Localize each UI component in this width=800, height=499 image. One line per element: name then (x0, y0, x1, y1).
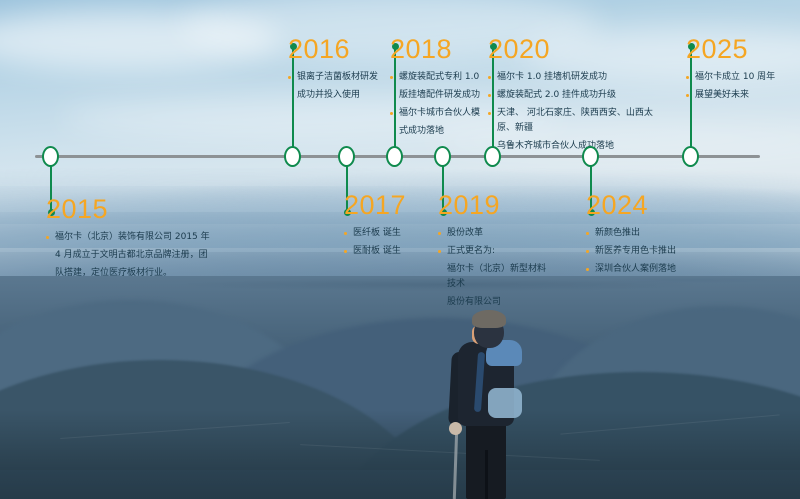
timeline-node-2018[interactable] (386, 146, 403, 167)
event-item: 医耐板 诞生 (344, 244, 434, 259)
event-item: 乌鲁木齐城市合伙人成功落地 (488, 139, 668, 154)
event-year-2020: 2020 (488, 36, 668, 63)
event-item-list-2015: 福尔卡（北京）装饰有限公司 2015 年4 月成立于文明古都北京品牌注册，团队搭… (46, 230, 231, 281)
event-item: 股份改革 (438, 226, 548, 241)
timeline-event-2015[interactable]: 2015福尔卡（北京）装饰有限公司 2015 年4 月成立于文明古都北京品牌注册… (46, 196, 231, 284)
event-item: 式成功落地 (390, 124, 490, 139)
event-item: 螺旋装配式专利 1.0 (390, 70, 490, 85)
event-item-list-2024: 新颜色推出新医养专用色卡推出深圳合伙人案例落地 (586, 226, 716, 277)
hiker-hand (449, 422, 462, 435)
event-item-list-2018: 螺旋装配式专利 1.0版挂墙配件研发成功福尔卡城市合伙人模式成功落地 (390, 70, 490, 139)
event-item: 医纤板 诞生 (344, 226, 434, 241)
event-item: 深圳合伙人案例落地 (586, 262, 716, 277)
timeline-event-2025[interactable]: 2025福尔卡成立 10 周年展望美好未来 (686, 36, 796, 106)
timeline-node-2016[interactable] (284, 146, 301, 167)
trekking-pole (453, 430, 458, 499)
event-year-2019: 2019 (438, 192, 548, 219)
event-item: 福尔卡成立 10 周年 (686, 70, 796, 85)
timeline-event-2017[interactable]: 2017医纤板 诞生医耐板 诞生 (344, 192, 434, 262)
timeline-event-2016[interactable]: 2016银离子洁菌板材研发成功并投入使用 (288, 36, 388, 106)
timeline-event-2024[interactable]: 2024新颜色推出新医养专用色卡推出深圳合伙人案例落地 (586, 192, 716, 280)
event-item: 螺旋装配式 2.0 挂件成功升级 (488, 88, 668, 103)
event-item-list-2016: 银离子洁菌板材研发成功并投入使用 (288, 70, 388, 103)
hiker-leg-split (485, 450, 488, 499)
event-item: 银离子洁菌板材研发 (288, 70, 388, 85)
hiker-figure (430, 300, 550, 499)
event-year-2025: 2025 (686, 36, 796, 63)
timeline-event-2018[interactable]: 2018螺旋装配式专利 1.0版挂墙配件研发成功福尔卡城市合伙人模式成功落地 (390, 36, 490, 142)
timeline-node-2015[interactable] (42, 146, 59, 167)
event-item: 成功并投入使用 (288, 88, 388, 103)
timeline-event-2019[interactable]: 2019股份改革正式更名为:福尔卡（北京）新型材料技术股份有限公司 (438, 192, 548, 313)
event-item: 股份有限公司 (438, 295, 548, 310)
event-item: 福尔卡（北京）新型材料技术 (438, 262, 548, 292)
event-item-list-2025: 福尔卡成立 10 周年展望美好未来 (686, 70, 796, 103)
event-item: 4 月成立于文明古都北京品牌注册，团 (46, 248, 231, 263)
event-year-2018: 2018 (390, 36, 490, 63)
event-year-2024: 2024 (586, 192, 716, 219)
timeline-infographic: 2015福尔卡（北京）装饰有限公司 2015 年4 月成立于文明古都北京品牌注册… (0, 0, 800, 499)
event-item-list-2019: 股份改革正式更名为:福尔卡（北京）新型材料技术股份有限公司 (438, 226, 548, 310)
event-item: 展望美好未来 (686, 88, 796, 103)
event-item: 新医养专用色卡推出 (586, 244, 716, 259)
event-item: 队搭建，定位医疗板材行业。 (46, 266, 231, 281)
event-item: 版挂墙配件研发成功 (390, 88, 490, 103)
event-item: 新颜色推出 (586, 226, 716, 241)
event-item: 福尔卡城市合伙人模 (390, 106, 490, 121)
event-item: 正式更名为: (438, 244, 548, 259)
timeline-event-2020[interactable]: 2020福尔卡 1.0 挂墙机研发成功螺旋装配式 2.0 挂件成功升级天津、 河… (488, 36, 668, 157)
event-item: 天津、 河北石家庄、陕西西安、山西太原、新疆 (488, 106, 668, 136)
event-item: 福尔卡（北京）装饰有限公司 2015 年 (46, 230, 231, 245)
foreground-ground (0, 470, 800, 499)
event-item-list-2017: 医纤板 诞生医耐板 诞生 (344, 226, 434, 259)
event-year-2016: 2016 (288, 36, 388, 63)
timeline-node-2017[interactable] (338, 146, 355, 167)
event-item-list-2020: 福尔卡 1.0 挂墙机研发成功螺旋装配式 2.0 挂件成功升级天津、 河北石家庄… (488, 70, 668, 154)
timeline-node-2024[interactable] (582, 146, 599, 167)
event-item: 福尔卡 1.0 挂墙机研发成功 (488, 70, 668, 85)
event-year-2017: 2017 (344, 192, 434, 219)
backpack-pocket (488, 388, 522, 418)
timeline-node-2025[interactable] (682, 146, 699, 167)
timeline-node-2019[interactable] (434, 146, 451, 167)
event-year-2015: 2015 (46, 196, 231, 223)
